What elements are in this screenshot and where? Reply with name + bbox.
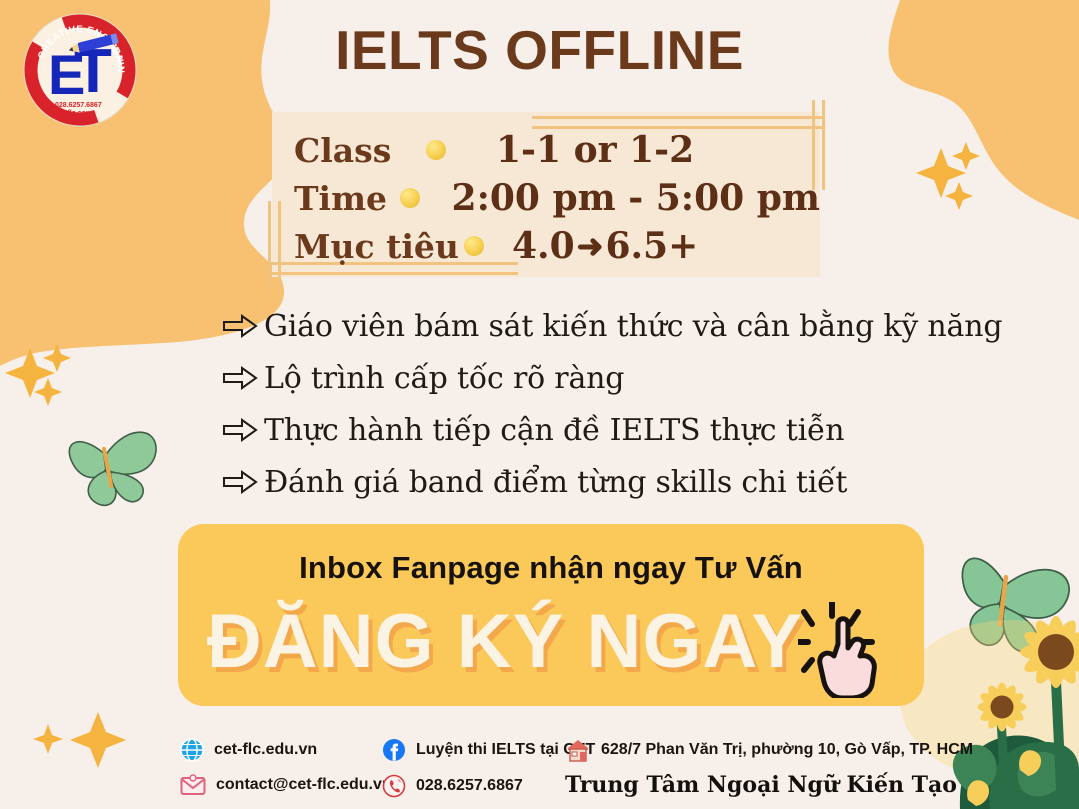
butterfly-icon <box>951 555 1073 658</box>
info-label-goal: Mục tiêu <box>294 227 464 266</box>
info-rows: Class 1-1 or 1-2 Time 2:00 pm - 5:00 pm … <box>272 118 820 278</box>
feature-text: Giáo viên bám sát kiến thức và cân bằng … <box>264 309 1002 344</box>
info-value-goal-to: 6.5+ <box>605 225 698 267</box>
coin-bullet-icon <box>464 236 484 256</box>
footer-facebook[interactable]: Luyện thi IELTS tại CET <box>382 738 595 762</box>
info-row-class: Class 1-1 or 1-2 <box>294 126 820 174</box>
feature-text: Thực hành tiếp cận đề IELTS thực tiễn <box>264 413 844 448</box>
cta-subtitle: Inbox Fanpage nhận ngay Tư Vấn <box>178 550 924 586</box>
phone-icon <box>382 774 406 798</box>
arrow-right-outline-icon <box>222 313 264 339</box>
svg-text:cet-flc.com: cet-flc.com <box>55 110 92 117</box>
footer-phone[interactable]: 028.6257.6867 <box>382 774 523 798</box>
info-value-time: 2:00 pm - 5:00 pm <box>452 177 820 219</box>
info-value-goal-from: 4.0 <box>512 225 575 267</box>
arrow-right-icon: ➜ <box>575 227 606 265</box>
info-label-class: Class <box>294 131 426 170</box>
sparkle-icon <box>916 142 980 210</box>
globe-icon <box>180 738 204 762</box>
house-icon <box>565 738 591 762</box>
arrow-right-outline-icon <box>222 417 264 443</box>
envelope-icon <box>180 774 206 796</box>
info-row-time: Time 2:00 pm - 5:00 pm <box>294 174 820 222</box>
feature-list: Giáo viên bám sát kiến thức và cân bằng … <box>222 300 982 508</box>
footer-address-text: 628/7 Phan Văn Trị, phường 10, Gò Vấp, T… <box>601 741 973 759</box>
coin-bullet-icon <box>426 140 446 160</box>
info-row-goal: Mục tiêu 4.0 ➜ 6.5+ <box>294 222 820 270</box>
list-item: Lộ trình cấp tốc rõ ràng <box>222 352 982 404</box>
sparkle-icon <box>5 344 71 406</box>
feature-text: Lộ trình cấp tốc rõ ràng <box>264 361 624 396</box>
coin-bullet-icon <box>400 188 420 208</box>
arrow-right-outline-icon <box>222 365 264 391</box>
footer-website-text: cet-flc.edu.vn <box>214 741 317 759</box>
footer-address: 628/7 Phan Văn Trị, phường 10, Gò Vấp, T… <box>565 738 973 762</box>
butterfly-icon <box>68 430 163 510</box>
footer-brand-name: Trung Tâm Ngoại Ngữ Kiến Tạo <box>565 772 957 798</box>
feature-text: Đánh giá band điểm từng skills chi tiết <box>264 465 847 500</box>
list-item: Giáo viên bám sát kiến thức và cân bằng … <box>222 300 982 352</box>
footer-phone-text: 028.6257.6867 <box>416 777 523 795</box>
svg-text:028.6257.6867: 028.6257.6867 <box>55 102 102 109</box>
footer-contact-bar: cet-flc.edu.vn contact@cet-flc.edu.vn Lu… <box>180 730 980 804</box>
page-title: IELTS OFFLINE <box>0 18 1079 82</box>
info-value-class: 1-1 or 1-2 <box>496 129 694 171</box>
list-item: Đánh giá band điểm từng skills chi tiết <box>222 456 982 508</box>
footer-email[interactable]: contact@cet-flc.edu.vn <box>180 774 392 796</box>
list-item: Thực hành tiếp cận đề IELTS thực tiễn <box>222 404 982 456</box>
info-label-time: Time <box>294 179 400 218</box>
sparkle-icon <box>33 712 126 768</box>
footer-website[interactable]: cet-flc.edu.vn <box>180 738 317 762</box>
poster-canvas: CREATIVE ENGLISH TRAINING E T 028.6257.6… <box>0 0 1079 809</box>
click-hand-icon <box>798 602 906 698</box>
facebook-icon <box>382 738 406 762</box>
footer-email-text: contact@cet-flc.edu.vn <box>216 776 392 794</box>
register-cta-banner[interactable]: Inbox Fanpage nhận ngay Tư Vấn ĐĂNG KÝ N… <box>178 524 924 706</box>
arrow-right-outline-icon <box>222 469 264 495</box>
